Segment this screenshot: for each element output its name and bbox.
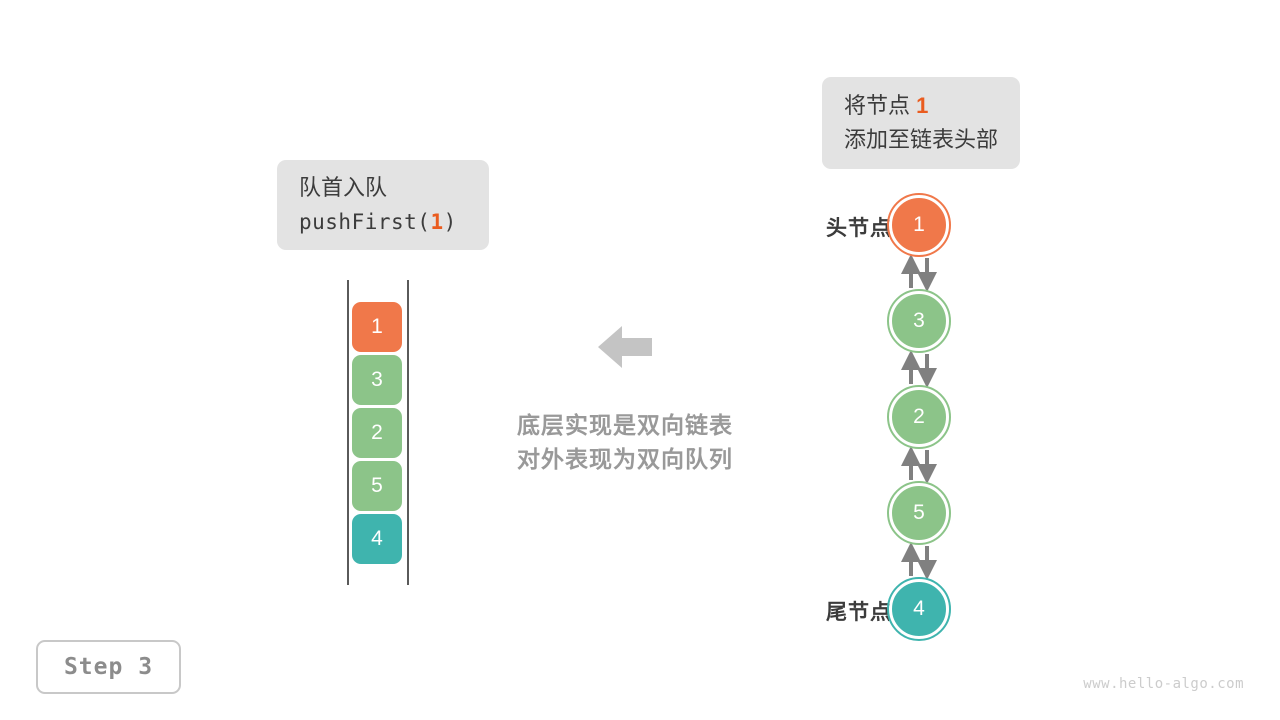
list-node-tail: 4 bbox=[890, 580, 948, 638]
queue-op-line2: pushFirst(1) bbox=[299, 205, 467, 239]
queue-cell: 5 bbox=[352, 461, 402, 511]
doubly-linked-list: 头节点 尾节点 13254 bbox=[760, 180, 1060, 650]
watermark: www.hello-algo.com bbox=[1083, 676, 1244, 692]
list-node-middle: 2 bbox=[890, 388, 948, 446]
arrow-left-icon bbox=[596, 318, 654, 376]
queue-cell: 2 bbox=[352, 408, 402, 458]
linkedlist-op-line2: 添加至链表头部 bbox=[844, 123, 998, 157]
linkedlist-op-line1: 将节点 1 bbox=[844, 89, 998, 123]
list-node-head: 1 bbox=[890, 196, 948, 254]
list-node-middle: 5 bbox=[890, 484, 948, 542]
queue-cell: 4 bbox=[352, 514, 402, 564]
pushfirst-text: pushFirst( bbox=[299, 210, 430, 234]
pushfirst-paren: ) bbox=[444, 210, 457, 234]
queue-rail-right bbox=[407, 280, 409, 585]
add-node-text: 将节点 bbox=[844, 93, 916, 118]
list-node-middle: 3 bbox=[890, 292, 948, 350]
step-label: Step 3 bbox=[64, 654, 153, 680]
caption-line2: 对外表现为双向队列 bbox=[440, 442, 810, 476]
queue-rail-left bbox=[347, 280, 349, 585]
caption-line1: 底层实现是双向链表 bbox=[440, 408, 810, 442]
queue-cell: 3 bbox=[352, 355, 402, 405]
pushfirst-value: 1 bbox=[430, 210, 443, 234]
diagram-caption: 底层实现是双向链表 对外表现为双向队列 bbox=[440, 408, 810, 476]
queue-cell: 1 bbox=[352, 302, 402, 352]
queue-column: 13254 bbox=[340, 280, 430, 590]
queue-op-line1: 队首入队 bbox=[299, 171, 467, 205]
queue-op-callout: 队首入队 pushFirst(1) bbox=[277, 160, 489, 250]
add-node-value: 1 bbox=[916, 93, 928, 118]
step-badge: Step 3 bbox=[36, 640, 181, 694]
diagram-canvas: 队首入队 pushFirst(1) 将节点 1 添加至链表头部 13254 底层… bbox=[0, 0, 1280, 720]
linkedlist-op-callout: 将节点 1 添加至链表头部 bbox=[822, 77, 1020, 169]
